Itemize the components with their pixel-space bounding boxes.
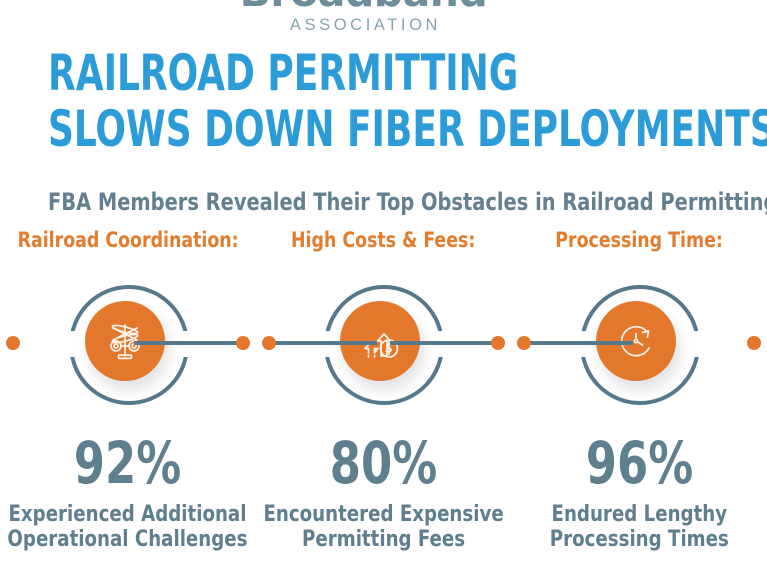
caption-line-1: Encountered Expensive: [263, 502, 503, 527]
page-subtitle: FBA Members Revealed Their Top Obstacles…: [48, 183, 678, 215]
connector-line-right: [134, 341, 243, 345]
stat-percent: 92%: [74, 434, 181, 492]
stat-caption: Encountered Expensive Permitting Fees: [263, 502, 503, 552]
stat-column-railroad-coordination: Railroad Coordination:: [0, 228, 256, 552]
page-title: RAILROAD PERMITTING SLOWS DOWN FIBER DEP…: [48, 48, 738, 154]
connector-dot-right: [236, 336, 250, 350]
column-header: Railroad Coordination:: [17, 228, 238, 254]
connector-dot-left: [517, 336, 531, 350]
stat-column-high-costs-fees: High Costs & Fees:: [256, 228, 512, 552]
connector-dot-left: [6, 336, 20, 350]
badge-row: [256, 268, 512, 418]
caption-line-2: Permitting Fees: [263, 527, 503, 552]
title-line-2: SLOWS DOWN FIBER DEPLOYMENTS: [48, 104, 600, 154]
connector-dot-right: [491, 336, 505, 350]
ring-gap-right: [690, 331, 706, 357]
stat-percent: 80%: [330, 434, 437, 492]
subtitle-text: FBA Members Revealed Their Top Obstacles…: [48, 188, 767, 216]
stat-percent: 96%: [585, 434, 692, 492]
connector-line-left: [269, 341, 378, 345]
infographic-page: Broadband ASSOCIATION RAILROAD PERMITTIN…: [0, 0, 767, 575]
caption-line-1: Experienced Additional: [8, 502, 248, 527]
badge-row: [0, 268, 256, 418]
stat-caption: Endured Lengthy Processing Times: [549, 502, 728, 552]
logo-wordmark: Broadband: [0, 0, 727, 14]
connector-line-right: [390, 341, 499, 345]
title-line-1: RAILROAD PERMITTING: [48, 48, 600, 98]
caption-line-1: Endured Lengthy: [549, 502, 728, 527]
badge-row: [511, 268, 767, 418]
column-header: Processing Time:: [555, 228, 723, 254]
logo-subtext: ASSOCIATION: [0, 15, 727, 35]
stat-column-processing-time: Processing Time:: [511, 228, 767, 552]
connector-dot-left: [262, 336, 276, 350]
connector-dot-right: [747, 336, 761, 350]
column-header: High Costs & Fees:: [291, 228, 475, 254]
ring-gap-left: [61, 331, 77, 357]
connector-line-left: [524, 341, 633, 345]
fba-logo: Broadband ASSOCIATION: [0, 0, 767, 35]
caption-line-2: Operational Challenges: [8, 527, 248, 552]
stats-columns: Railroad Coordination:: [0, 228, 767, 552]
stat-caption: Experienced Additional Operational Chall…: [8, 502, 248, 552]
caption-line-2: Processing Times: [549, 527, 728, 552]
